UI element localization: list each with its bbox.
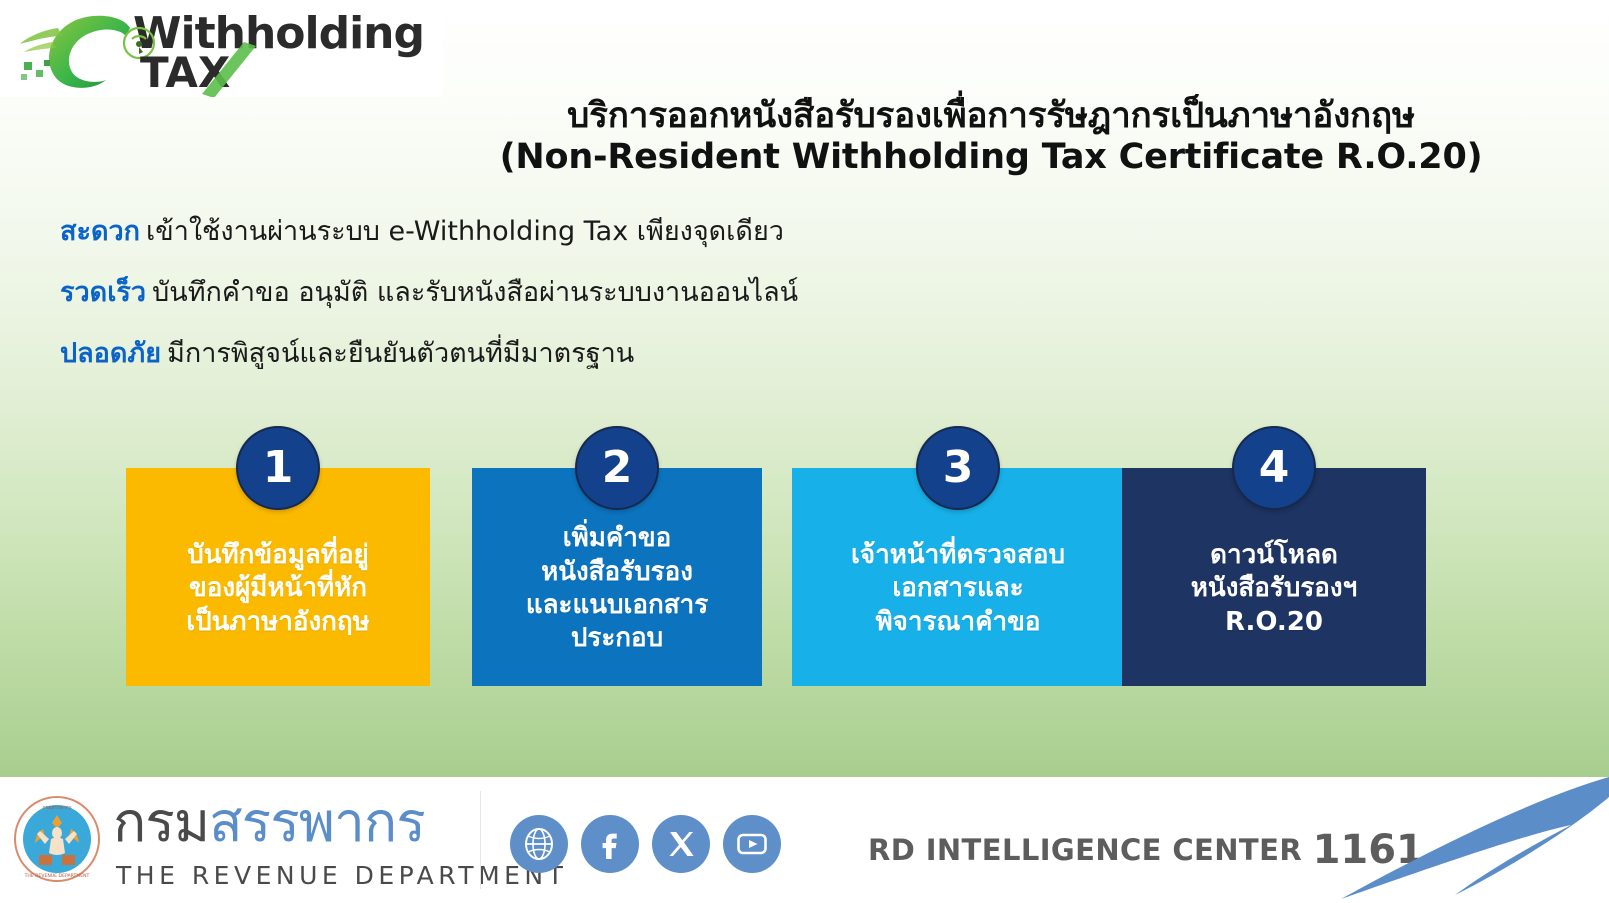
revenue-department-emblem-icon: กรมสรรพากร THE REVENUE DEPARTMENT bbox=[13, 795, 101, 883]
facebook-icon[interactable] bbox=[581, 815, 639, 873]
title-thai: บริการออกหนังสือรับรองเพื่อการรัษฎากรเป็… bbox=[380, 96, 1602, 137]
green-slash-icon bbox=[198, 42, 260, 97]
step-badge-1: 1 bbox=[236, 426, 320, 510]
footer-bar: กรมสรรพากร THE REVENUE DEPARTMENT กรมสรร… bbox=[0, 777, 1609, 903]
step-card-1[interactable]: 1 บันทึกข้อมูลที่อยู่ ของผู้มีหน้าที่หัก… bbox=[126, 468, 430, 686]
x-twitter-icon[interactable] bbox=[652, 815, 710, 873]
benefits-list: สะดวกเข้าใช้งานผ่านระบบ e-Withholding Ta… bbox=[60, 218, 1210, 401]
step-badge-3: 3 bbox=[916, 426, 1000, 510]
social-links bbox=[510, 815, 781, 873]
footer-org-thai-dark: กรม bbox=[113, 790, 209, 854]
step-label-2: เพิ่มคำขอ หนังสือรับรอง และแนบเอกสาร ประ… bbox=[526, 522, 708, 655]
step-4-line-3: R.O.20 bbox=[1191, 606, 1357, 639]
footer-org-english: THE REVENUE DEPARTMENT bbox=[116, 861, 567, 890]
step-badge-2: 2 bbox=[575, 426, 659, 510]
globe-glyph bbox=[522, 827, 556, 861]
step-badge-4: 4 bbox=[1232, 426, 1316, 510]
globe-icon[interactable] bbox=[510, 815, 568, 873]
step-2-line-4: ประกอบ bbox=[526, 622, 708, 655]
step-4-line-1: ดาวน์โหลด bbox=[1191, 539, 1357, 572]
facebook-glyph bbox=[593, 827, 627, 861]
benefit-text-3: มีการพิสูจน์และยืนยันตัวตนที่มีมาตรฐาน bbox=[167, 338, 634, 369]
benefit-keyword-2: รวดเร็ว bbox=[60, 277, 146, 308]
step-1-line-2: ของผู้มีหน้าที่หัก bbox=[186, 572, 370, 605]
step-card-3[interactable]: 3 เจ้าหน้าที่ตรวจสอบ เอกสารและ พิจารณาคำ… bbox=[792, 468, 1124, 686]
step-1-line-1: บันทึกข้อมูลที่อยู่ bbox=[186, 539, 370, 572]
footer-org-thai-blue: สรรพากร bbox=[209, 790, 425, 854]
poster-root: Withholding TAX บริการออกหนังสือรับรองเพ… bbox=[0, 0, 1609, 903]
step-3-line-1: เจ้าหน้าที่ตรวจสอบ bbox=[851, 539, 1065, 572]
step-3-line-3: พิจารณาคำขอ bbox=[851, 606, 1065, 639]
benefit-text-1: เข้าใช้งานผ่านระบบ e-Withholding Tax เพี… bbox=[146, 216, 784, 247]
step-3-line-2: เอกสารและ bbox=[851, 572, 1065, 605]
youtube-glyph bbox=[734, 826, 770, 862]
x-twitter-glyph bbox=[665, 828, 697, 860]
step-label-4: ดาวน์โหลด หนังสือรับรองฯ R.O.20 bbox=[1191, 539, 1357, 639]
benefit-item-1: สะดวกเข้าใช้งานผ่านระบบ e-Withholding Ta… bbox=[60, 218, 1210, 245]
step-card-2[interactable]: 2 เพิ่มคำขอ หนังสือรับรอง และแนบเอกสาร ป… bbox=[472, 468, 762, 686]
svg-text:THE REVENUE DEPARTMENT: THE REVENUE DEPARTMENT bbox=[24, 873, 90, 879]
benefit-keyword-3: ปลอดภัย bbox=[60, 338, 161, 369]
ewht-logo-block: Withholding TAX bbox=[0, 0, 443, 97]
step-2-line-2: หนังสือรับรอง bbox=[526, 556, 708, 589]
benefit-keyword-1: สะดวก bbox=[60, 216, 140, 247]
title-english: (Non-Resident Withholding Tax Certificat… bbox=[380, 137, 1602, 178]
footer-divider bbox=[480, 791, 481, 889]
step-2-line-1: เพิ่มคำขอ bbox=[526, 522, 708, 555]
step-label-3: เจ้าหน้าที่ตรวจสอบ เอกสารและ พิจารณาคำขอ bbox=[851, 539, 1065, 639]
footer-org-thai: กรมสรรพากร bbox=[113, 795, 425, 850]
step-1-line-3: เป็นภาษาอังกฤษ bbox=[186, 606, 370, 639]
process-steps: 1 บันทึกข้อมูลที่อยู่ ของผู้มีหน้าที่หัก… bbox=[126, 468, 1488, 686]
step-2-line-3: และแนบเอกสาร bbox=[526, 589, 708, 622]
svg-text:กรมสรรพากร: กรมสรรพากร bbox=[42, 805, 72, 811]
step-label-1: บันทึกข้อมูลที่อยู่ ของผู้มีหน้าที่หัก เ… bbox=[186, 539, 370, 639]
benefit-item-2: รวดเร็วบันทึกคำขอ อนุมัติ และรับหนังสือผ… bbox=[60, 279, 1210, 306]
youtube-icon[interactable] bbox=[723, 815, 781, 873]
blue-swoosh-decoration bbox=[1289, 777, 1609, 903]
step-card-4[interactable]: 4 ดาวน์โหลด หนังสือรับรองฯ R.O.20 bbox=[1122, 468, 1426, 686]
step-4-line-2: หนังสือรับรองฯ bbox=[1191, 572, 1357, 605]
page-title: บริการออกหนังสือรับรองเพื่อการรัษฎากรเป็… bbox=[380, 96, 1602, 179]
benefit-item-3: ปลอดภัยมีการพิสูจน์และยืนยันตัวตนที่มีมา… bbox=[60, 340, 1210, 367]
benefit-text-2: บันทึกคำขอ อนุมัติ และรับหนังสือผ่านระบบ… bbox=[152, 277, 798, 308]
rd-ic-label: RD INTELLIGENCE CENTER bbox=[868, 833, 1302, 867]
